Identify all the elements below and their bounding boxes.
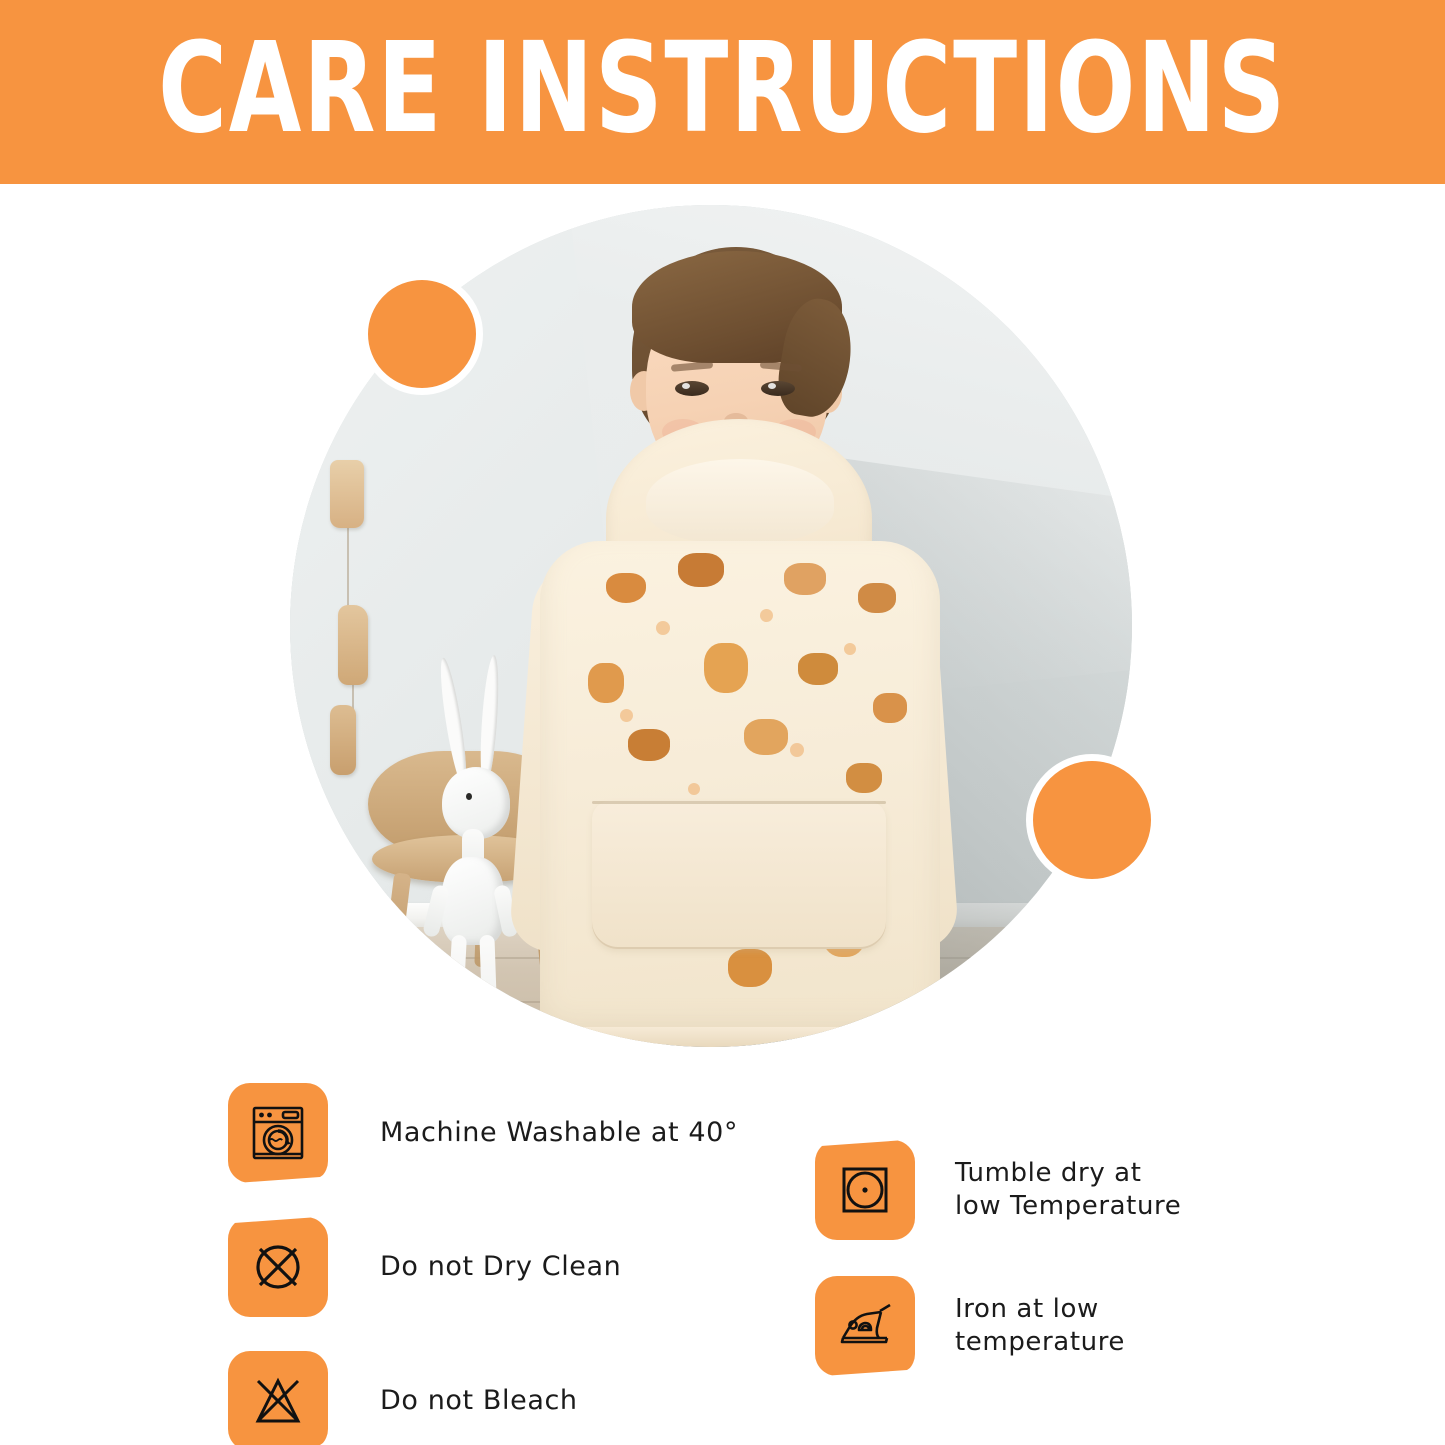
rabbit-eye bbox=[466, 793, 472, 800]
care-instructions-infographic: CARE INSTRUCTIONS bbox=[0, 0, 1445, 1445]
tumble-dry-low-icon bbox=[815, 1140, 915, 1240]
dog-print bbox=[628, 729, 670, 761]
eye bbox=[761, 381, 795, 396]
care-label: Do not Dry Clean bbox=[380, 1250, 621, 1285]
rabbit-head bbox=[442, 767, 510, 839]
dog-print bbox=[846, 763, 882, 793]
care-label: Iron at low temperature bbox=[955, 1293, 1125, 1360]
care-list-left: Machine Washable at 40° Do not Dry Clean bbox=[228, 1083, 788, 1445]
care-list-right: Tumble dry at low Temperature Iron at lo… bbox=[815, 1140, 1375, 1376]
page-title: CARE INSTRUCTIONS bbox=[158, 27, 1287, 156]
wall-hook-icon bbox=[330, 460, 364, 528]
care-label: Machine Washable at 40° bbox=[380, 1116, 738, 1151]
care-row-machine-wash: Machine Washable at 40° bbox=[228, 1083, 788, 1183]
care-row-no-dry-clean: Do not Dry Clean bbox=[228, 1217, 788, 1317]
dog-print bbox=[784, 563, 826, 595]
care-row-iron-low: Iron at low temperature bbox=[815, 1276, 1375, 1376]
decorative-circle bbox=[361, 273, 483, 395]
eye bbox=[675, 381, 709, 396]
dog-print bbox=[744, 719, 788, 755]
header-band: CARE INSTRUCTIONS bbox=[0, 0, 1445, 184]
dog-print bbox=[728, 949, 772, 987]
dog-print bbox=[606, 573, 646, 603]
eye-highlight bbox=[682, 383, 690, 389]
dog-print bbox=[704, 643, 748, 693]
hood-opening bbox=[646, 459, 834, 543]
eye-highlight bbox=[768, 383, 776, 389]
iron-low-icon bbox=[815, 1276, 915, 1376]
wall-hook-icon bbox=[330, 705, 356, 775]
rabbit-body bbox=[442, 857, 504, 945]
dog-print bbox=[678, 553, 724, 587]
dog-print bbox=[873, 693, 907, 723]
wall-hook-icon bbox=[338, 605, 368, 685]
hoodie-pocket bbox=[592, 801, 886, 949]
care-row-no-bleach: Do not Bleach bbox=[228, 1351, 788, 1445]
child-figure bbox=[528, 223, 958, 1047]
care-row-tumble-dry: Tumble dry at low Temperature bbox=[815, 1140, 1375, 1240]
dog-print bbox=[588, 663, 624, 703]
dog-print bbox=[858, 583, 896, 613]
dog-print bbox=[798, 653, 838, 685]
care-label: Do not Bleach bbox=[380, 1384, 578, 1419]
washing-machine-icon bbox=[228, 1083, 328, 1183]
hoodie-hem bbox=[540, 1027, 940, 1047]
care-label: Tumble dry at low Temperature bbox=[955, 1157, 1181, 1224]
no-bleach-icon bbox=[228, 1351, 328, 1445]
decorative-circle bbox=[1026, 754, 1158, 886]
pocket-seam bbox=[592, 801, 886, 804]
no-dry-clean-icon bbox=[228, 1217, 328, 1317]
